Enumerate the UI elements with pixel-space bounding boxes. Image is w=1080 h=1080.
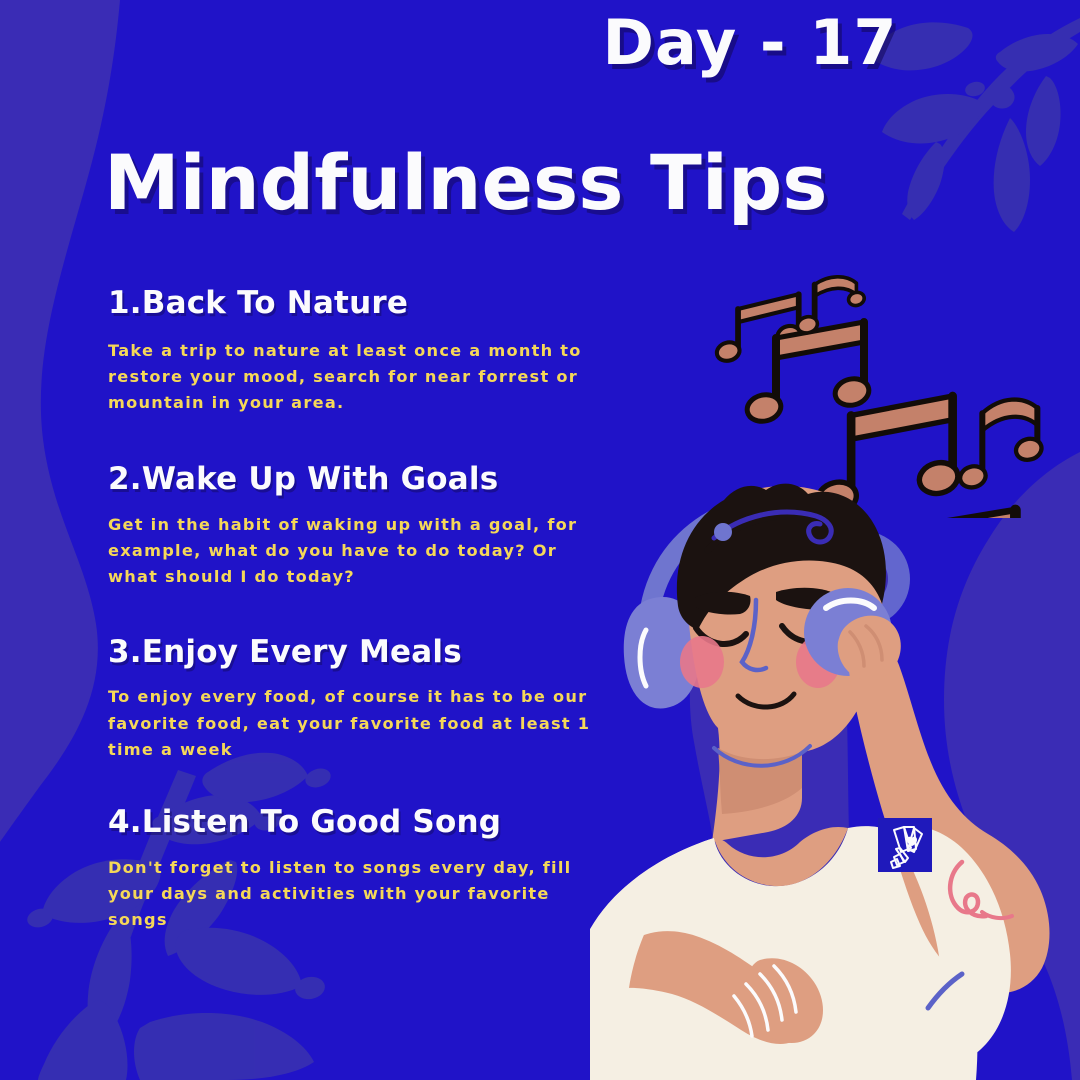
tip-title: 4.Listen To Good Song: [108, 805, 613, 841]
list-item: 4.Listen To Good Song Don't forget to li…: [108, 805, 613, 933]
page-title: Mindfulness Tips: [104, 138, 828, 227]
tip-body: Don't forget to listen to songs every da…: [108, 855, 598, 934]
list-item: 1.Back To Nature Take a trip to nature a…: [108, 286, 613, 416]
tip-body: Take a trip to nature at least once a mo…: [108, 338, 598, 417]
hand-holding-cards-icon: [878, 818, 932, 872]
tip-title: 2.Wake Up With Goals: [108, 462, 613, 498]
person-listening-music-illustration: [590, 480, 1080, 1080]
tip-body: To enjoy every food, of course it has to…: [108, 684, 598, 763]
tip-body: Get in the habit of waking up with a goa…: [108, 512, 598, 591]
cheek-left: [680, 636, 724, 688]
list-item: 3.Enjoy Every Meals To enjoy every food,…: [108, 635, 613, 763]
tips-list: 1.Back To Nature Take a trip to nature a…: [108, 286, 613, 957]
list-item: 2.Wake Up With Goals Get in the habit of…: [108, 462, 613, 590]
day-badge: Day - 17: [540, 6, 960, 79]
poster-canvas: Day - 17 Mindfulness Tips 1.Back To Natu…: [0, 0, 1080, 1080]
tip-title: 1.Back To Nature: [108, 286, 613, 322]
tip-title: 3.Enjoy Every Meals: [108, 635, 613, 671]
